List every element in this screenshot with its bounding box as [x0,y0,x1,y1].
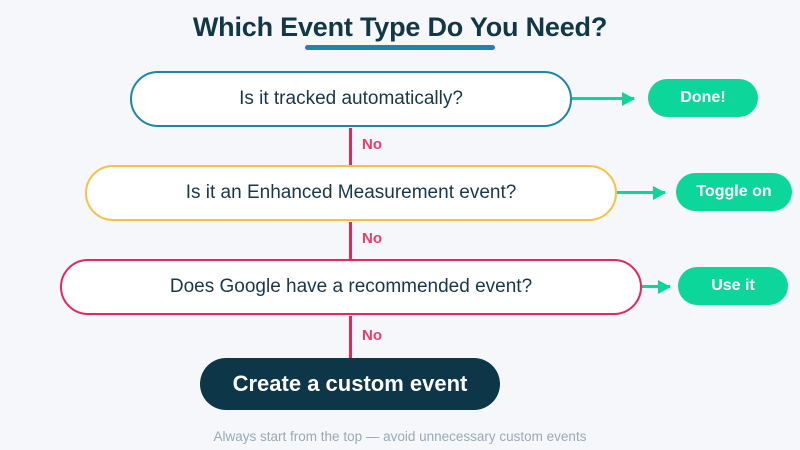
decision-node-2[interactable]: Is it an Enhanced Measurement event? [85,165,617,221]
terminal-node-create-custom-event[interactable]: Create a custom event [200,358,500,410]
decision-node-1[interactable]: Is it tracked automatically? [130,71,572,127]
no-connector-3 [349,316,352,358]
footer-caption: Always start from the top — avoid unnece… [0,429,800,444]
no-label-1: No [362,136,382,153]
yes-arrow-icon-2 [617,191,665,194]
outcome-badge-2[interactable]: Toggle on [676,173,792,211]
outcome-badge-1[interactable]: Done! [648,79,758,117]
flowchart-canvas: Which Event Type Do You Need? Is it trac… [0,0,800,450]
title-underline [305,45,495,50]
outcome-badge-3[interactable]: Use it [678,267,788,305]
page-title: Which Event Type Do You Need? [0,12,800,43]
no-label-2: No [362,230,382,247]
no-connector-2 [349,222,352,259]
decision-node-3[interactable]: Does Google have a recommended event? [60,259,642,315]
no-label-3: No [362,327,382,344]
no-connector-1 [349,128,352,165]
yes-arrow-icon-3 [642,285,670,288]
yes-arrow-icon-1 [572,97,634,100]
